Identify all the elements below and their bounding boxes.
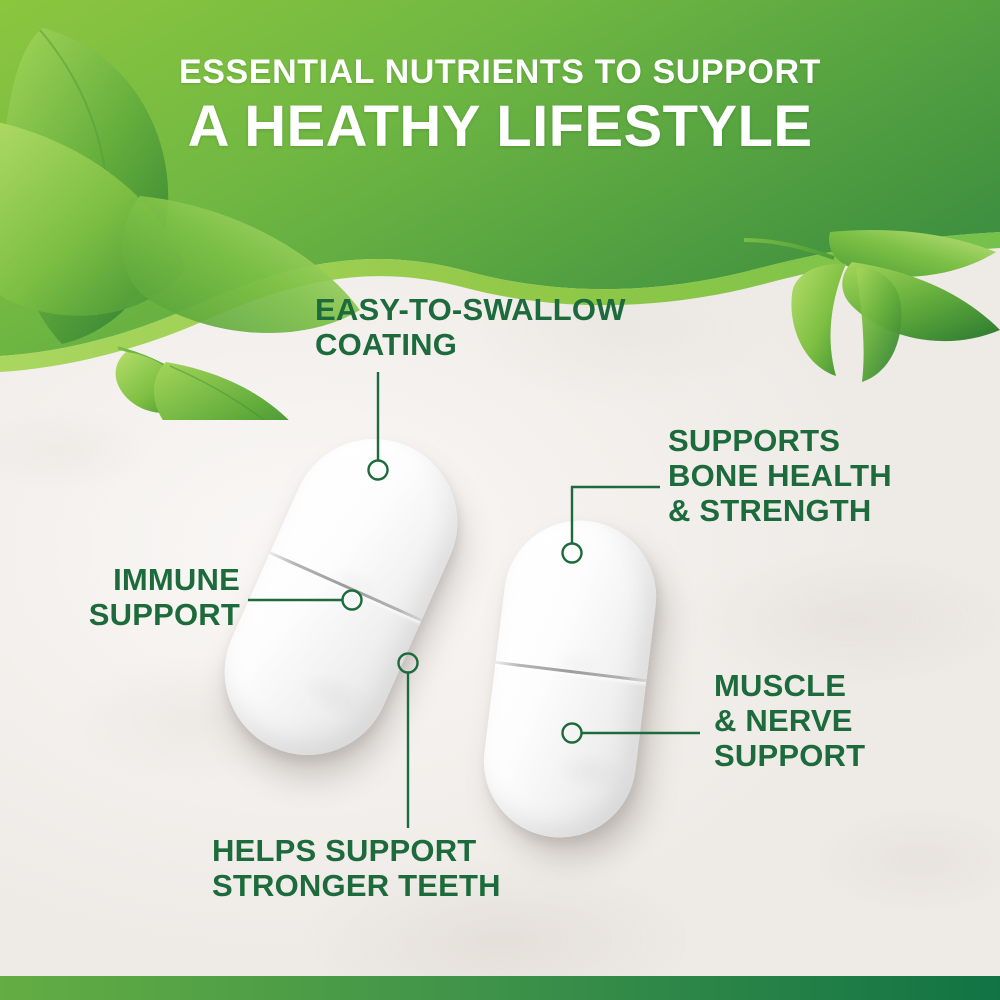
callout-helps-support-stronger-teeth: HELPS SUPPORT STRONGER TEETH bbox=[212, 833, 632, 903]
leaf-cluster-lower-left bbox=[116, 348, 316, 420]
callout-immune-support: IMMUNE SUPPORT bbox=[0, 562, 240, 632]
callout-muscle-nerve-support: MUSCLE & NERVE SUPPORT bbox=[714, 668, 994, 773]
infographic-canvas: ESSENTIAL NUTRIENTS TO SUPPORT A HEATHY … bbox=[0, 0, 1000, 1000]
callout-easy-to-swallow-coating: EASY-TO-SWALLOW COATING bbox=[315, 292, 735, 362]
callout-supports-bone-health-strength: SUPPORTS BONE HEALTH & STRENGTH bbox=[668, 423, 998, 528]
footer-accent-bar bbox=[0, 976, 1000, 1000]
